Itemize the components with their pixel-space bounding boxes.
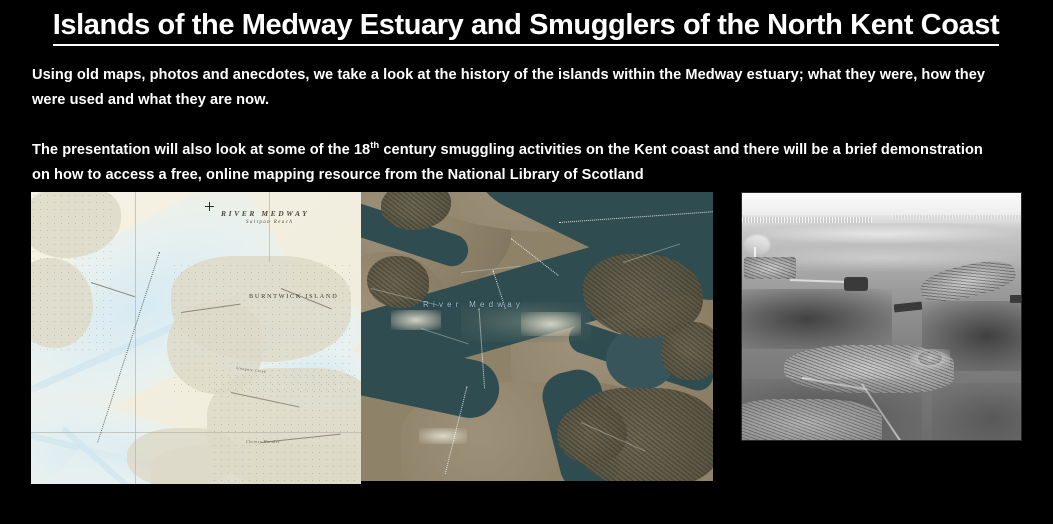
os-grid-line-vertical-east xyxy=(269,192,270,262)
page-title: Islands of the Medway Estuary and Smuggl… xyxy=(30,9,1022,46)
os-label-saltpan-reach: Saltpan Reach xyxy=(246,220,293,225)
image-historic-os-map: RIVER MEDWAY Saltpan Reach BURNTWICK ISL… xyxy=(31,192,361,484)
satellite-artwork: River Medway xyxy=(361,192,713,481)
os-grid-line-horizontal xyxy=(31,432,361,433)
body-text-block: Using old maps, photos and anecdotes, we… xyxy=(32,63,1004,188)
os-marsh-texture-west xyxy=(31,192,116,352)
os-marsh-texture-south xyxy=(211,372,361,484)
aerial-photo-artwork xyxy=(742,193,1021,440)
ordinal-superscript: th xyxy=(370,140,379,151)
aerial-chimney-smoke xyxy=(744,235,770,255)
aerial-distant-town-right xyxy=(892,215,1022,219)
sat-saltmarsh-east-edge xyxy=(661,322,713,380)
aerial-foreground-marsh xyxy=(741,399,882,441)
aerial-industrial-works xyxy=(744,257,796,279)
os-grid-line-vertical xyxy=(135,192,136,484)
aerial-horizon-sky xyxy=(742,193,1021,215)
sat-sandbank-bright-south xyxy=(419,428,467,444)
aerial-far-shoreline xyxy=(741,223,1022,245)
os-label-burntwick-island: BURNTWICK ISLAND xyxy=(249,293,338,300)
map-crosshair-marker xyxy=(205,202,214,211)
sat-sandbank-bright-west xyxy=(391,310,441,330)
aerial-deep-water-left xyxy=(741,289,892,349)
aerial-foreground-water-right xyxy=(932,383,1022,441)
os-map-artwork: RIVER MEDWAY Saltpan Reach BURNTWICK ISL… xyxy=(31,192,361,484)
sat-sandbank-bright-east xyxy=(521,312,581,336)
os-label-chetney-marshes: Chetney Marshes xyxy=(246,440,280,444)
presentation-slide: Islands of the Medway Estuary and Smuggl… xyxy=(0,0,1053,524)
paragraph-two-part-one: The presentation will also look at some … xyxy=(32,142,370,158)
sat-label-river-medway: River Medway xyxy=(423,300,524,309)
paragraph-one: Using old maps, photos and anecdotes, we… xyxy=(32,63,1004,113)
paragraph-two: The presentation will also look at some … xyxy=(32,138,1004,188)
aerial-island-fort xyxy=(918,351,942,365)
image-aerial-photograph xyxy=(741,192,1022,441)
aerial-ship-midstream xyxy=(894,302,923,313)
page-title-text: Islands of the Medway Estuary and Smuggl… xyxy=(53,9,999,46)
sat-saltmarsh-south-central xyxy=(557,404,627,464)
image-satellite-view: River Medway xyxy=(361,192,713,481)
os-label-river-medway: RIVER MEDWAY xyxy=(221,209,309,218)
